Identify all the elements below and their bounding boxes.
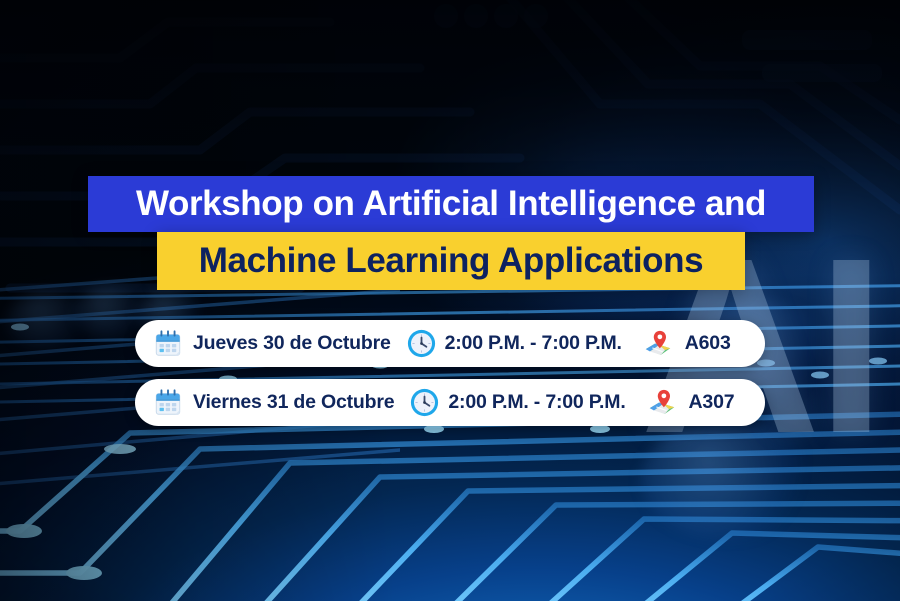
title-line-2: Machine Learning Applications — [199, 241, 703, 281]
title-banner-secondary: Machine Learning Applications — [157, 232, 745, 290]
session-pill: Jueves 30 de Octubre 2:00 P.M. - 7:00 P.… — [135, 320, 765, 367]
calendar-icon — [153, 329, 183, 359]
session-date: Viernes 31 de Octubre — [193, 391, 394, 414]
session-room-group: A307 — [646, 387, 735, 419]
event-poster: AI Workshop on Artificial Intelligence a… — [0, 0, 900, 601]
session-time: 2:00 P.M. - 7:00 P.M. — [448, 391, 625, 414]
background-vignette — [0, 0, 900, 601]
session-date: Jueves 30 de Octubre — [193, 332, 391, 355]
session-room: A307 — [689, 391, 735, 414]
clock-icon — [410, 388, 439, 417]
title-banner-primary: Workshop on Artificial Intelligence and — [88, 176, 814, 232]
session-room: A603 — [685, 332, 731, 355]
session-time-group: 2:00 P.M. - 7:00 P.M. — [407, 329, 622, 358]
session-date-group: Viernes 31 de Octubre — [153, 388, 394, 418]
session-room-group: A603 — [642, 328, 731, 360]
map-pin-icon — [642, 328, 674, 360]
map-pin-icon — [646, 387, 678, 419]
session-time: 2:00 P.M. - 7:00 P.M. — [445, 332, 622, 355]
calendar-icon — [153, 388, 183, 418]
session-time-group: 2:00 P.M. - 7:00 P.M. — [410, 388, 625, 417]
session-pill: Viernes 31 de Octubre 2:00 P.M. - 7:00 P… — [135, 379, 765, 426]
clock-icon — [407, 329, 436, 358]
title-line-1: Workshop on Artificial Intelligence and — [136, 184, 766, 224]
session-date-group: Jueves 30 de Octubre — [153, 329, 391, 359]
